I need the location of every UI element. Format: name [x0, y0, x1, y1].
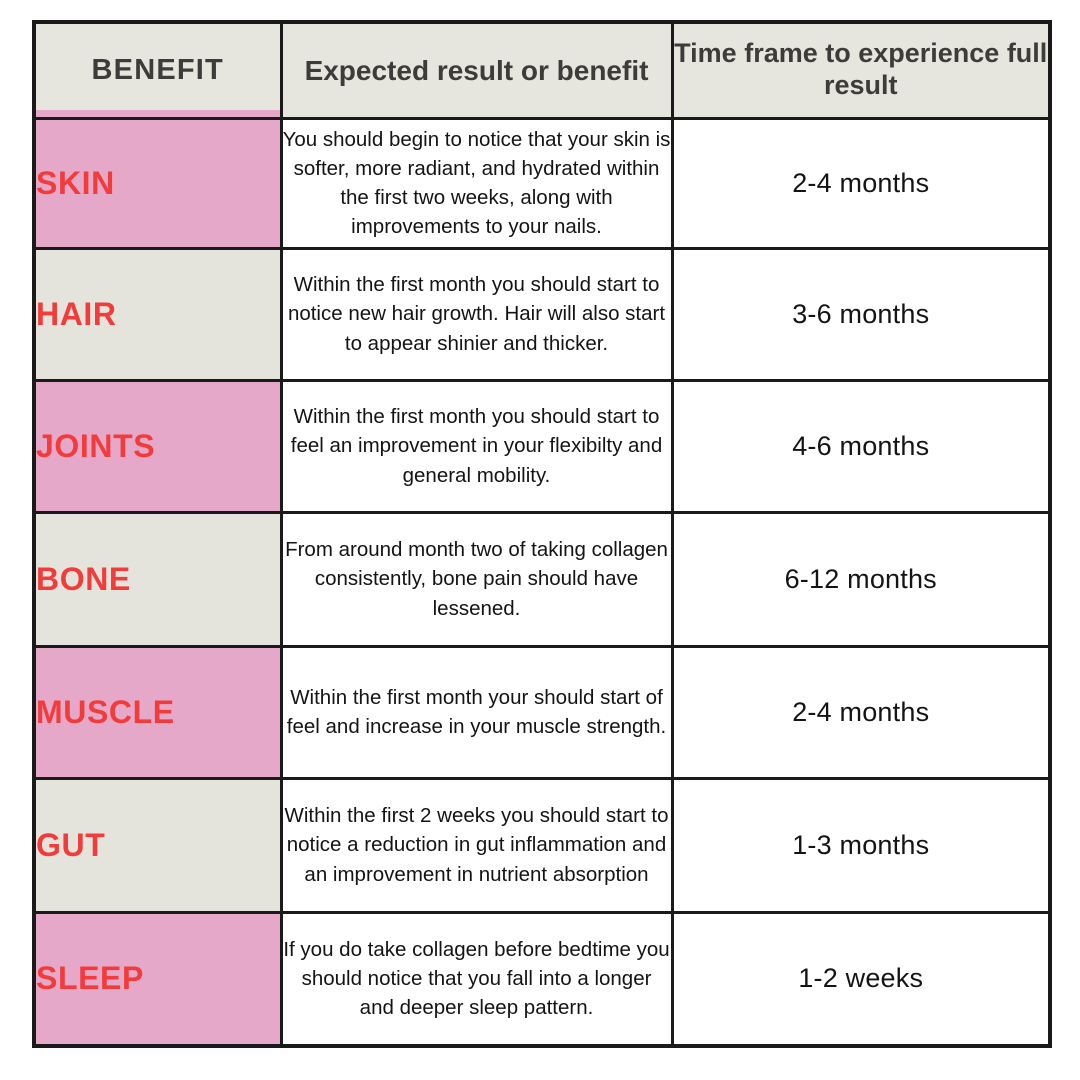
table-row-gut: GUT Within the first 2 weeks you should … — [34, 778, 1050, 912]
column-header-expected-result: Expected result or benefit — [281, 22, 672, 118]
time-frame-hair: 3-6 months — [672, 248, 1050, 380]
table-row-bone: BONE From around month two of taking col… — [34, 512, 1050, 646]
benefit-label-muscle: MUSCLE — [34, 646, 281, 778]
time-frame-gut: 1-3 months — [672, 778, 1050, 912]
benefit-label-bone: BONE — [34, 512, 281, 646]
table-row-sleep: SLEEP If you do take collagen before bed… — [34, 912, 1050, 1046]
expected-result-joints: Within the first month you should start … — [281, 380, 672, 512]
table-header: BENEFIT Expected result or benefit Time … — [34, 22, 1050, 118]
benefit-label-joints: JOINTS — [34, 380, 281, 512]
page-root: BENEFIT Expected result or benefit Time … — [0, 0, 1080, 1080]
benefit-label-skin: SKIN — [34, 118, 281, 248]
collagen-benefits-table: BENEFIT Expected result or benefit Time … — [32, 20, 1052, 1048]
column-header-time-frame: Time frame to experience full result — [672, 22, 1050, 118]
time-frame-sleep: 1-2 weeks — [672, 912, 1050, 1046]
expected-result-gut: Within the first 2 weeks you should star… — [281, 778, 672, 912]
time-frame-joints: 4-6 months — [672, 380, 1050, 512]
time-frame-skin: 2-4 months — [672, 118, 1050, 248]
table-header-row: BENEFIT Expected result or benefit Time … — [34, 22, 1050, 118]
expected-result-muscle: Within the first month your should start… — [281, 646, 672, 778]
time-frame-bone: 6-12 months — [672, 512, 1050, 646]
benefit-label-gut: GUT — [34, 778, 281, 912]
expected-result-skin: You should begin to notice that your ski… — [281, 118, 672, 248]
time-frame-muscle: 2-4 months — [672, 646, 1050, 778]
expected-result-hair: Within the first month you should start … — [281, 248, 672, 380]
expected-result-bone: From around month two of taking collagen… — [281, 512, 672, 646]
table-row-hair: HAIR Within the first month you should s… — [34, 248, 1050, 380]
table-body: SKIN You should begin to notice that you… — [34, 118, 1050, 1046]
table-row-muscle: MUSCLE Within the first month your shoul… — [34, 646, 1050, 778]
table-row-joints: JOINTS Within the first month you should… — [34, 380, 1050, 512]
expected-result-sleep: If you do take collagen before bedtime y… — [281, 912, 672, 1046]
table-row-skin: SKIN You should begin to notice that you… — [34, 118, 1050, 248]
column-header-benefit: BENEFIT — [34, 22, 281, 118]
benefit-label-hair: HAIR — [34, 248, 281, 380]
benefit-label-sleep: SLEEP — [34, 912, 281, 1046]
